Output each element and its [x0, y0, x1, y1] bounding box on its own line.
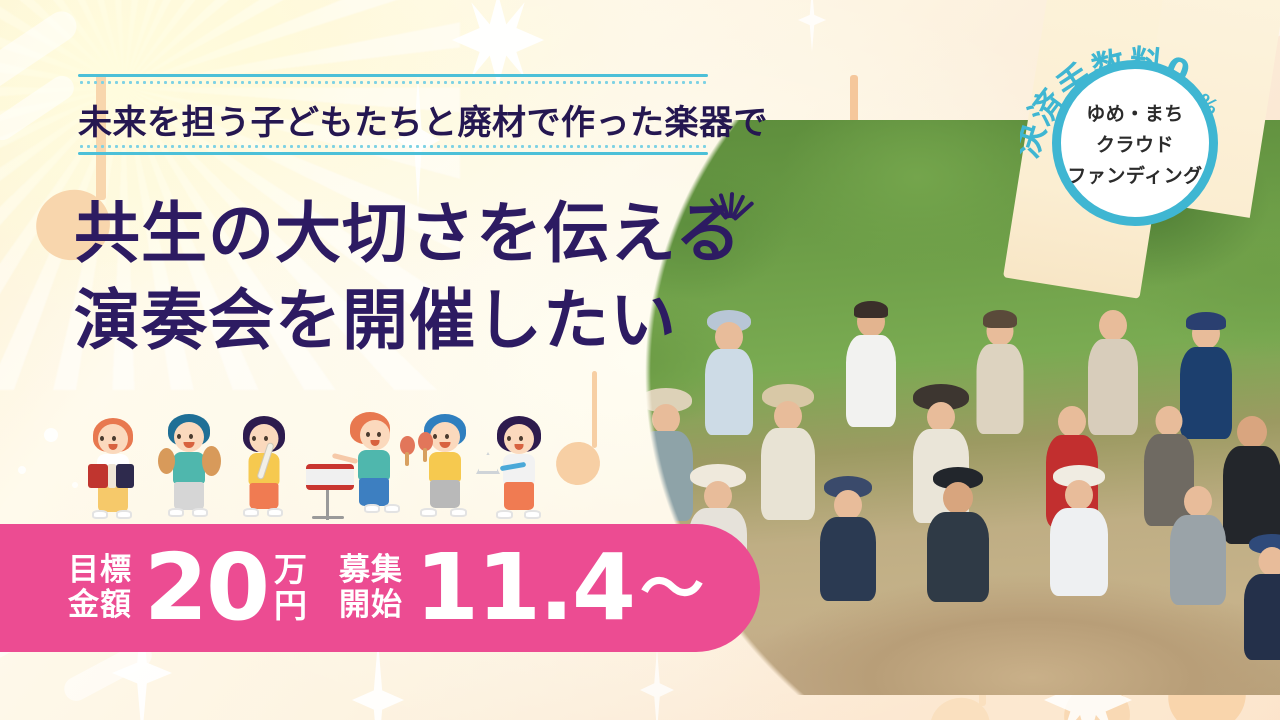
start-label: 募集 開始 — [339, 553, 403, 622]
goal-label-line-1: 目標 — [68, 553, 132, 588]
banner-stage: 未来を担う子どもたちと廃材で作った楽器で 共生の大切さを伝える 演奏会を開催した… — [0, 0, 1280, 720]
photo-person — [848, 306, 894, 430]
start-label-line-2: 開始 — [339, 588, 403, 623]
goal-amount: 20 — [144, 546, 268, 631]
goal-unit-line-2: 円 — [274, 588, 307, 624]
photo-person — [1052, 472, 1106, 594]
dot-decor-3 — [72, 482, 78, 488]
subheadline-text: 未来を担う子どもたちと廃材で作った楽器で — [78, 103, 768, 143]
campaign-summary-banner: 目標 金額 20 万 円 募集 開始 11.4 〜 — [0, 524, 760, 652]
photo-person — [1172, 486, 1224, 604]
goal-label-line-2: 金額 — [68, 588, 132, 623]
kid-cymbals-player — [160, 414, 218, 522]
cymbal-icon — [158, 448, 175, 474]
cymbal-icon — [202, 446, 221, 476]
photo-person — [1090, 310, 1136, 436]
accordion-icon — [88, 464, 108, 488]
badge-text: ゆめ・まち クラウド ファンディング — [1052, 60, 1218, 226]
sparkle-decor-5 — [352, 640, 404, 720]
sparkle-burst-icon — [690, 178, 770, 258]
divider-top — [78, 74, 708, 84]
headline-line-2: 演奏会を開催したい — [74, 277, 742, 364]
sparkle-decor-3 — [798, 0, 826, 52]
photo-person — [1246, 540, 1280, 658]
photo-person — [930, 474, 986, 600]
dot-decor-2 — [18, 466, 26, 474]
snare-drum-icon — [306, 464, 354, 490]
kid-maracas-player — [416, 414, 474, 524]
goal-unit: 万 円 — [274, 552, 307, 625]
headline-line-1: 共生の大切さを伝える — [74, 190, 742, 277]
start-date: 11.4 — [415, 546, 634, 631]
start-label-line-1: 募集 — [339, 553, 403, 588]
triangle-instrument-icon — [476, 452, 500, 474]
service-badge: ゆめ・まち クラウド ファンディング — [1052, 60, 1218, 226]
goal-unit-line-1: 万 — [274, 552, 307, 588]
photo-person — [1226, 416, 1278, 544]
photo-person — [822, 482, 874, 600]
photo-person — [764, 392, 812, 518]
badge-line-3: ファンディング — [1067, 161, 1202, 188]
photo-person — [978, 316, 1022, 436]
start-date-suffix: 〜 — [640, 538, 704, 630]
kid-accordion-player — [84, 418, 142, 522]
kid-recorder-player — [236, 416, 292, 522]
page-title: 共生の大切さを伝える 演奏会を開催したい — [74, 190, 742, 364]
kid-snare-drum-player — [340, 412, 400, 524]
subheadline: 未来を担う子どもたちと廃材で作った楽器で — [78, 95, 768, 144]
badge-line-2: クラウド — [1096, 130, 1174, 157]
photo-person — [642, 396, 690, 518]
divider-bottom — [78, 145, 708, 155]
kid-triangle-player — [490, 416, 548, 524]
goal-label: 目標 金額 — [68, 553, 132, 622]
dot-decor-1 — [44, 428, 58, 442]
badge-line-1: ゆめ・まち — [1086, 99, 1184, 126]
